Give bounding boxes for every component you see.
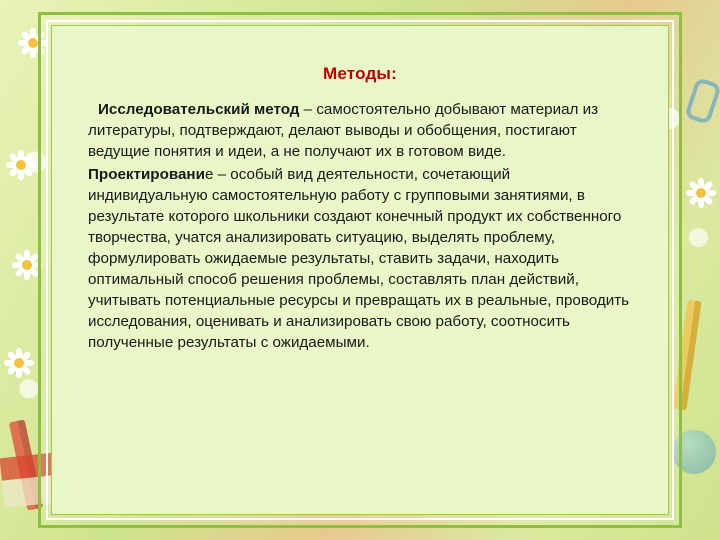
definition-design-method: е – особый вид деятельности, сочетающий … — [88, 166, 629, 351]
paragraph-design-method: Проектирование – особый вид деятельности… — [88, 165, 632, 354]
term-design-method: Проектировани — [88, 166, 205, 183]
slide-body: Исследовательский метод – самостоятельно… — [88, 100, 632, 354]
slide-content: Методы: Исследовательский метод – самост… — [60, 34, 660, 506]
slide: Методы: Исследовательский метод – самост… — [0, 0, 720, 540]
daisy-flower-icon — [6, 150, 36, 180]
paragraph-research-method: Исследовательский метод – самостоятельно… — [88, 100, 632, 163]
daisy-flower-icon — [686, 178, 716, 208]
term-research-method: Исследовательский метод — [98, 101, 299, 118]
daisy-flower-icon — [4, 348, 34, 378]
slide-title: Методы: — [88, 64, 632, 84]
